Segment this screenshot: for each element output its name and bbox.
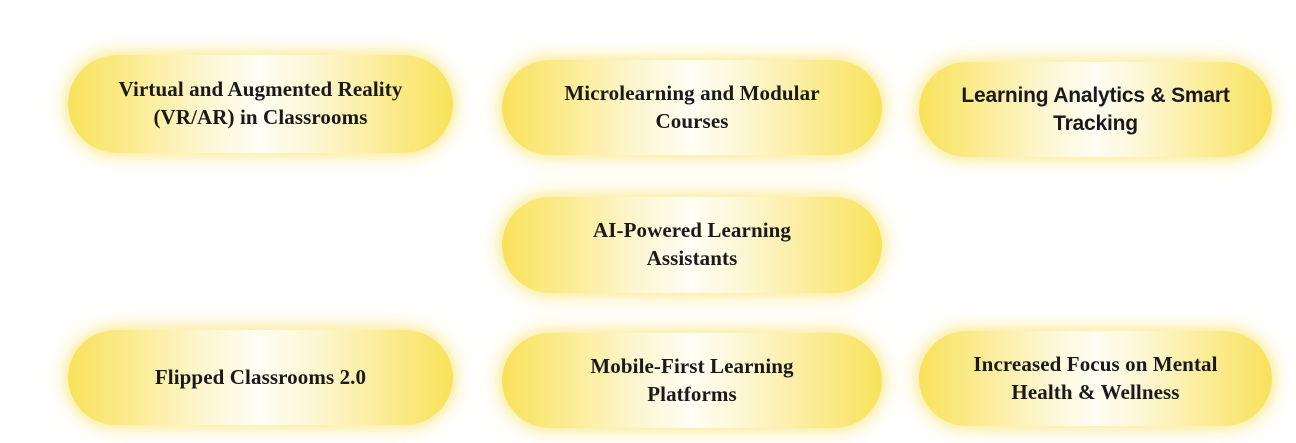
- card-learning-analytics-smart-tracking[interactable]: Learning Analytics & Smart Tracking: [919, 62, 1272, 157]
- card-label: Mobile-First Learning Platforms: [590, 353, 793, 409]
- card-label: Flipped Classrooms 2.0: [155, 364, 366, 392]
- card-label: Virtual and Augmented Reality (VR/AR) in…: [119, 76, 403, 132]
- card-increased-focus-mental-health-wellness[interactable]: Increased Focus on Mental Health & Welln…: [919, 331, 1272, 426]
- card-label: Learning Analytics & Smart Tracking: [961, 82, 1229, 138]
- card-vr-ar-classrooms[interactable]: Virtual and Augmented Reality (VR/AR) in…: [68, 55, 453, 153]
- card-ai-powered-learning-assistants[interactable]: AI-Powered Learning Assistants: [502, 197, 882, 293]
- card-flipped-classrooms-2-0[interactable]: Flipped Classrooms 2.0: [68, 330, 453, 425]
- card-label: Increased Focus on Mental Health & Welln…: [973, 351, 1217, 407]
- card-microlearning-modular-courses[interactable]: Microlearning and Modular Courses: [502, 60, 882, 155]
- card-label: AI-Powered Learning Assistants: [593, 217, 791, 273]
- card-mobile-first-learning-platforms[interactable]: Mobile-First Learning Platforms: [502, 333, 882, 428]
- card-label: Microlearning and Modular Courses: [564, 80, 819, 136]
- pill-board: Virtual and Augmented Reality (VR/AR) in…: [0, 0, 1296, 443]
